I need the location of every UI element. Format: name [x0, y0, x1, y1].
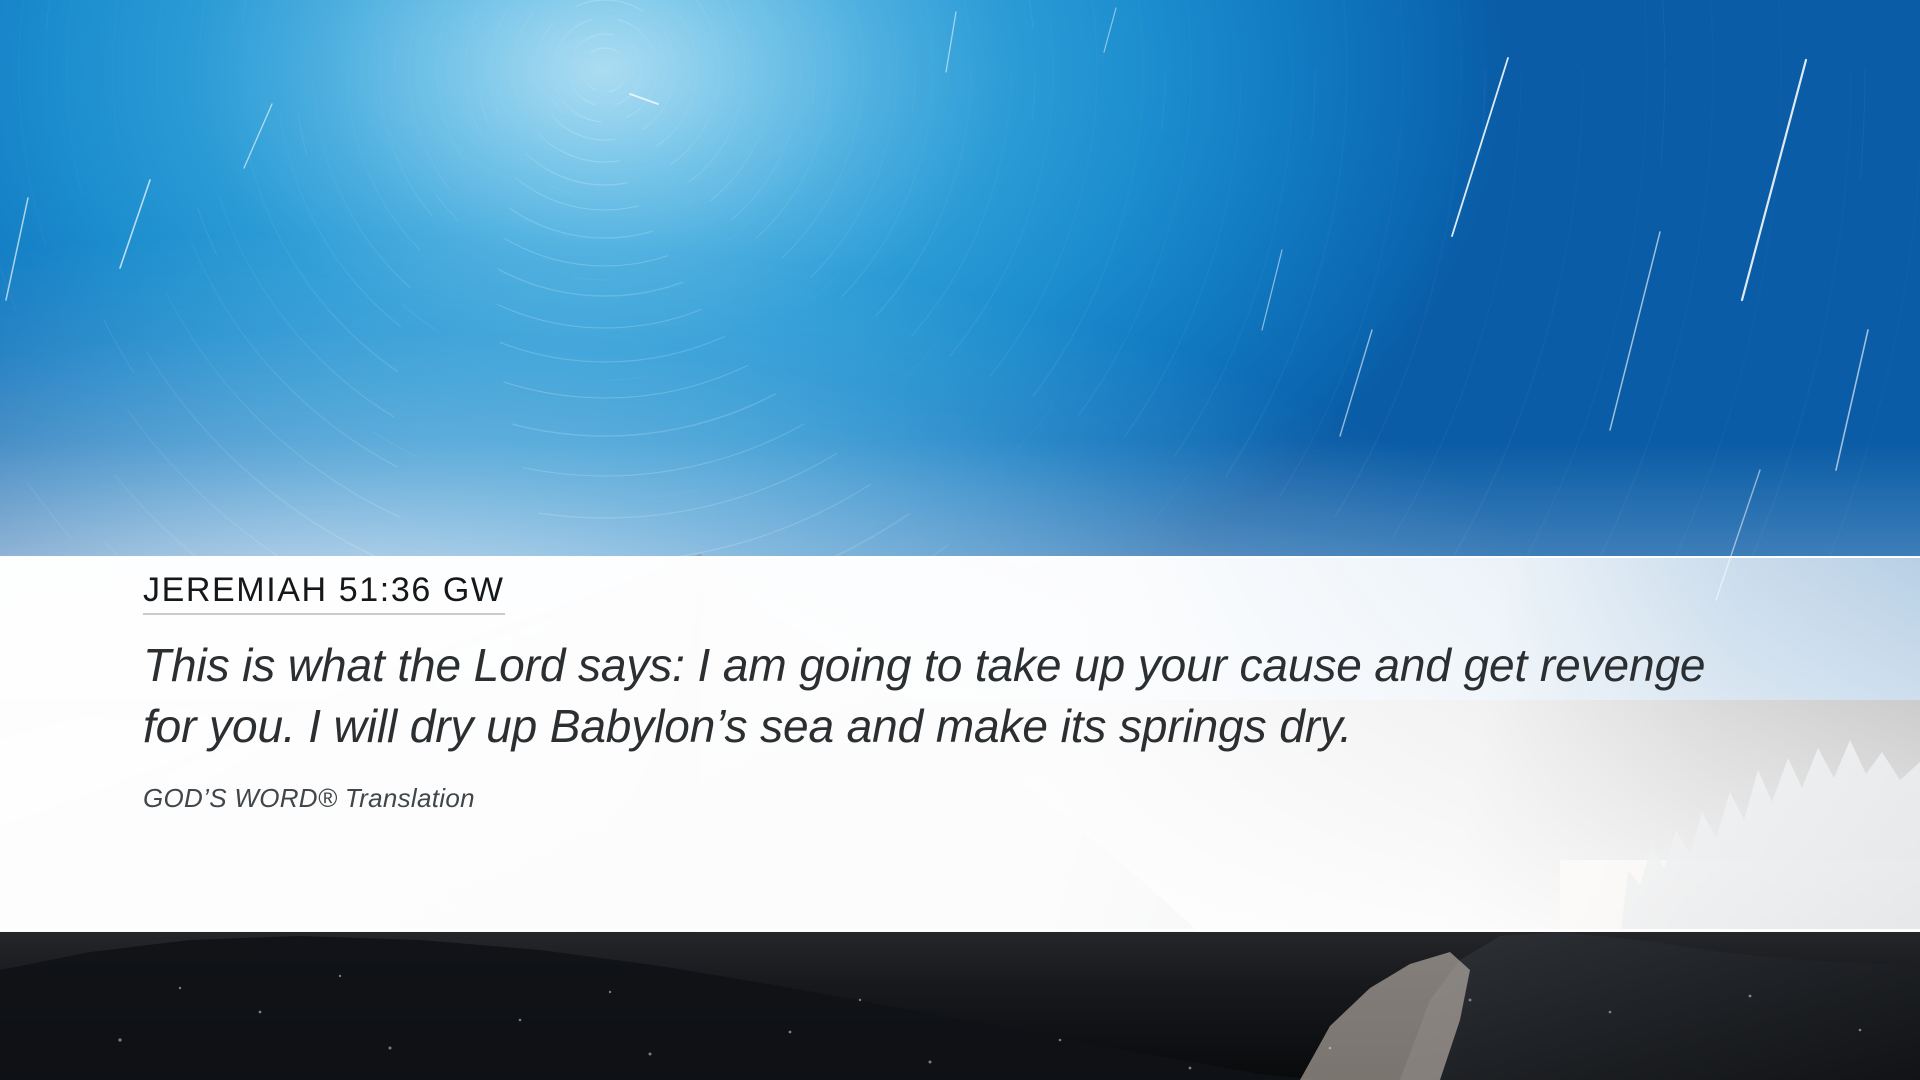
verse-content: JEREMIAH 51:36 GW This is what the Lord … [143, 572, 1823, 814]
verse-image-canvas: JEREMIAH 51:36 GW This is what the Lord … [0, 0, 1920, 1080]
band-bottom-rule [0, 929, 1920, 932]
translation-attribution: GOD’S WORD® Translation [143, 783, 1823, 814]
band-top-rule [0, 556, 1920, 558]
verse-text: This is what the Lord says: I am going t… [143, 635, 1753, 757]
verse-reference: JEREMIAH 51:36 GW [143, 572, 505, 615]
